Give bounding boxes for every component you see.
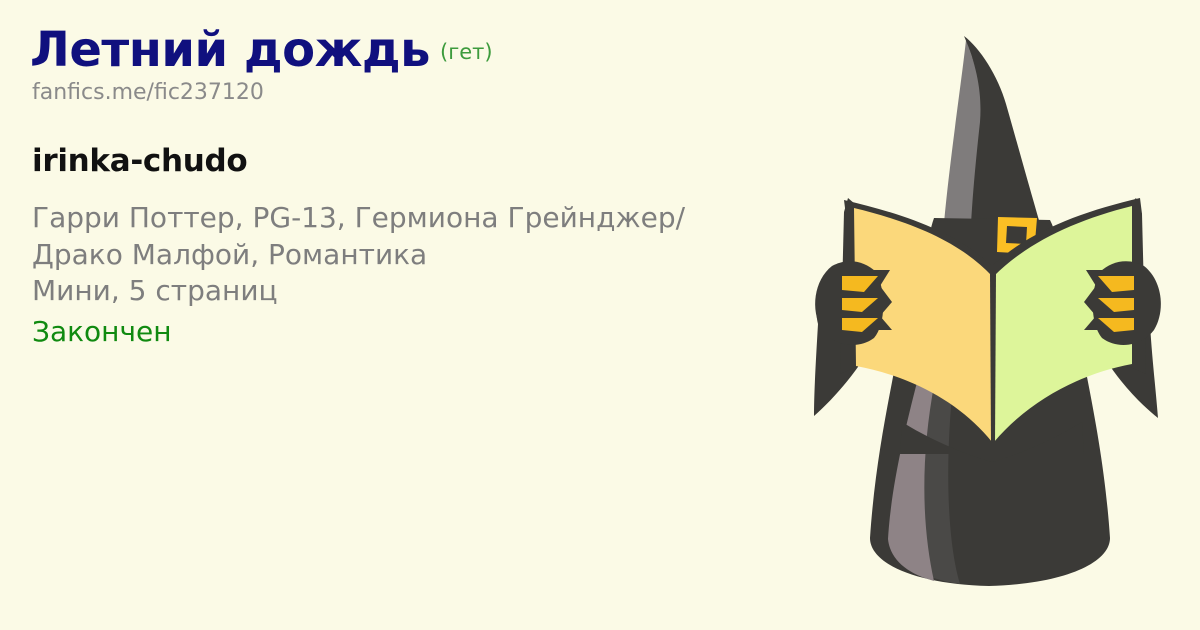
author-name[interactable]: irinka-chudo — [32, 144, 760, 178]
preview-card: Летний дождь(гет) fanfics.me/fic237120 i… — [0, 0, 1200, 630]
status-badge: Закончен — [32, 314, 760, 350]
book-spine — [990, 274, 996, 444]
page-title: Летний дождь — [30, 22, 430, 78]
story-meta-block: Гарри Поттер, PG-13, Гермиона Грейнджер/… — [32, 200, 760, 350]
story-category-badge: (гет) — [440, 40, 493, 64]
hat-buckle-hole — [1006, 226, 1027, 244]
story-meta-size-pages: Мини, 5 страниц — [32, 273, 722, 309]
story-url[interactable]: fanfics.me/fic237120 — [32, 80, 760, 106]
story-info-column: Летний дождь(гет) fanfics.me/fic237120 i… — [30, 26, 760, 350]
title-row: Летний дождь(гет) — [30, 26, 760, 74]
story-meta-fandom-rating-pairing-genre: Гарри Поттер, PG-13, Гермиона Грейнджер/… — [32, 200, 722, 273]
wizard-reading-book-illustration — [784, 18, 1194, 608]
